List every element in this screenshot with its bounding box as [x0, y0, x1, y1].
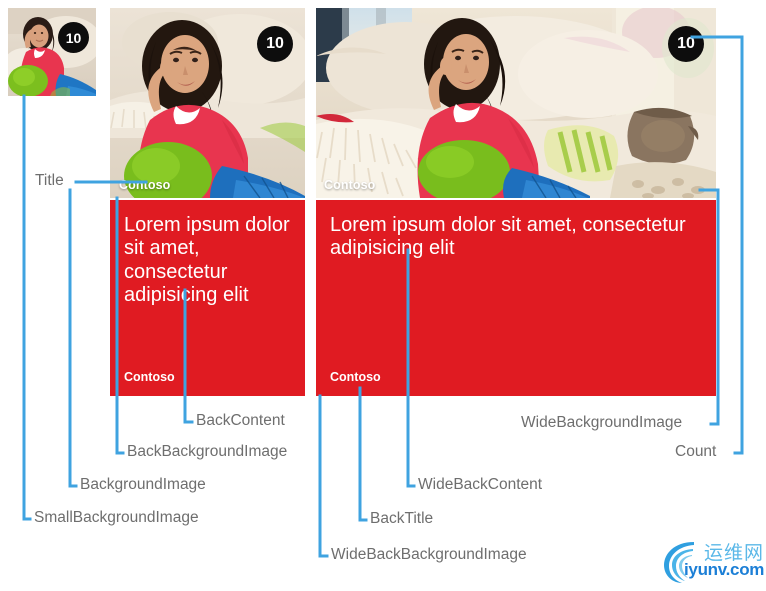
- medium-back-tile[interactable]: Lorem ipsum dolor sit amet, consectetur …: [110, 200, 305, 396]
- wide-back-tile[interactable]: Lorem ipsum dolor sit amet, consectetur …: [316, 200, 716, 396]
- small-tile[interactable]: 10: [8, 8, 96, 96]
- callout-back-content: BackContent: [196, 412, 285, 430]
- callout-background-image: BackgroundImage: [80, 476, 206, 494]
- wide-back-title-text: Contoso: [330, 370, 381, 384]
- small-tile-count-badge: 10: [58, 22, 89, 53]
- callout-title: Title: [35, 172, 64, 190]
- callout-small-background-image: SmallBackgroundImage: [34, 509, 199, 527]
- callout-wide-back-content: WideBackContent: [418, 476, 542, 494]
- callout-count: Count: [675, 443, 716, 461]
- small-tile-count-value: 10: [66, 31, 82, 45]
- back-title-text: Contoso: [124, 370, 175, 384]
- wide-background-image: [316, 8, 716, 198]
- medium-tile-count-badge: 10: [257, 26, 293, 62]
- medium-tile[interactable]: 10 Contoso: [110, 8, 305, 198]
- wide-tile-count-value: 10: [677, 36, 695, 52]
- back-content-text: Lorem ipsum dolor sit amet, consectetur …: [124, 214, 290, 308]
- wide-tile-count-badge: 10: [668, 26, 704, 62]
- callout-back-background-image: BackBackgroundImage: [127, 443, 287, 461]
- callout-wide-back-background-image: WideBackBackgroundImage: [331, 546, 527, 564]
- wide-tile[interactable]: 10 Contoso: [316, 8, 716, 198]
- callout-back-title: BackTitle: [370, 510, 433, 528]
- watermark: 运维网 iyunv.com: [660, 536, 764, 586]
- small-background-image: [8, 8, 96, 96]
- watermark-domain-text: iyunv.com: [684, 560, 764, 580]
- wide-back-content-text: Lorem ipsum dolor sit amet, consectetur …: [330, 214, 690, 261]
- diagram-canvas: 10: [0, 0, 766, 591]
- medium-tile-count-value: 10: [266, 36, 284, 52]
- medium-tile-title: Contoso: [119, 178, 170, 192]
- callout-wide-background-image: WideBackgroundImage: [521, 414, 682, 432]
- wide-tile-title: Contoso: [324, 178, 375, 192]
